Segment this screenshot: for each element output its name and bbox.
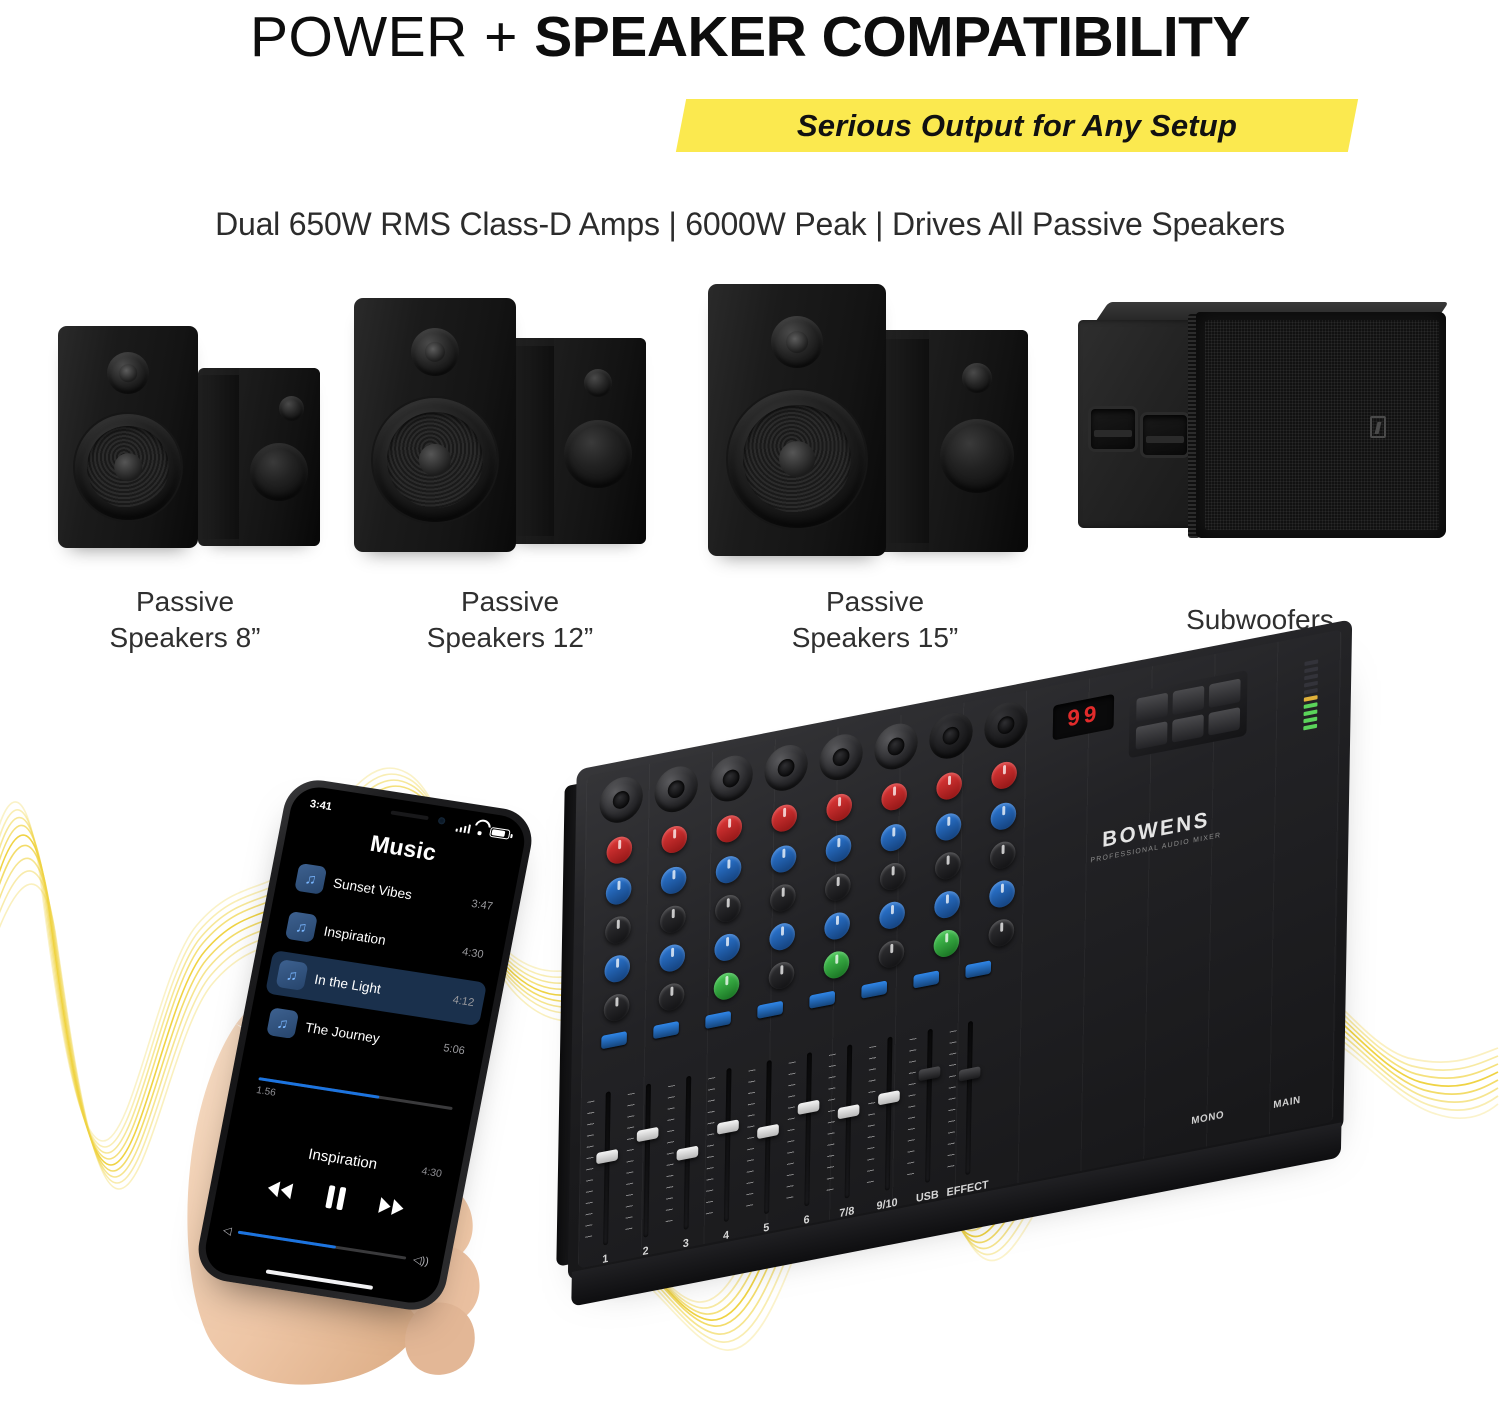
gain-knob[interactable]	[606, 834, 632, 866]
fx-button[interactable]	[1172, 714, 1204, 743]
gain-knob[interactable]	[881, 781, 907, 813]
page-title: POWER + SPEAKER COMPATIBILITY	[0, 2, 1500, 72]
playback-progress[interactable]: 1.56	[255, 1077, 452, 1126]
meter-led	[1304, 659, 1318, 666]
woofer-driver	[250, 443, 308, 501]
pan-knob[interactable]	[714, 970, 740, 1002]
aux-send-knob[interactable]	[604, 953, 630, 985]
fader-scale	[706, 1077, 715, 1219]
fader-slot	[965, 1021, 973, 1175]
fader-scale	[786, 1061, 795, 1203]
aux-send-knob[interactable]	[824, 910, 850, 942]
fader-cap[interactable]	[919, 1066, 941, 1081]
track-title: Sunset Vibes	[332, 875, 464, 910]
eq-high-knob[interactable]	[606, 875, 632, 907]
subwoofer-handle	[1140, 412, 1190, 458]
status-indicators	[455, 822, 511, 840]
speaker-front	[708, 284, 886, 556]
channel-fader[interactable]: 3	[674, 1074, 700, 1232]
volume-fill	[238, 1231, 336, 1249]
channel-fader[interactable]: 4	[715, 1066, 741, 1224]
aux-send-knob[interactable]	[659, 942, 685, 974]
meter-led	[1304, 695, 1318, 702]
fx-button[interactable]	[1208, 707, 1240, 736]
aux-send-knob[interactable]	[934, 889, 960, 921]
mono-output-label: MONO	[1191, 1110, 1224, 1128]
track-title: Inspiration	[323, 923, 455, 958]
track-duration: 3:47	[470, 898, 493, 913]
woofer-driver	[373, 398, 497, 522]
pan-knob[interactable]	[878, 938, 904, 970]
fader-scale	[827, 1054, 836, 1196]
subwoofer-cabinet	[1072, 302, 1450, 564]
mute-button[interactable]	[965, 960, 991, 978]
eq-mid-knob[interactable]	[880, 861, 906, 893]
track-title: The Journey	[304, 1019, 436, 1054]
page-title-bold: SPEAKER COMPATIBILITY	[534, 5, 1250, 69]
speaker-front	[354, 298, 516, 552]
mute-button[interactable]	[601, 1031, 627, 1049]
fx-button[interactable]	[1136, 693, 1168, 722]
fader-scale	[625, 1093, 634, 1235]
battery-icon	[489, 827, 511, 840]
meter-led	[1303, 724, 1317, 731]
aux-send-knob[interactable]	[714, 932, 740, 964]
track-duration: 5:06	[442, 1042, 465, 1057]
mixer-console: 99	[568, 619, 1352, 1281]
product-label: Passive Speakers 15”	[792, 584, 959, 656]
xlr-input-jack[interactable]	[764, 741, 808, 794]
fader-scale	[867, 1046, 876, 1188]
product-passive-12: Passive Speakers 12”	[330, 280, 690, 660]
meter-led	[1304, 674, 1318, 681]
channel-fader[interactable]: 1	[594, 1089, 620, 1247]
fader-cap[interactable]	[798, 1100, 820, 1115]
xlr-input-jack[interactable]	[599, 773, 643, 826]
woofer-driver	[940, 419, 1014, 493]
music-note-icon: ♫	[266, 1007, 299, 1039]
track-duration: 4:30	[461, 946, 484, 961]
product-image-passive-12	[330, 280, 690, 580]
fader-scale	[666, 1085, 675, 1227]
eq-high-knob[interactable]	[880, 822, 906, 854]
tweeter-driver	[771, 316, 823, 368]
front-camera-icon	[438, 817, 446, 825]
speaker-cabinet-side	[198, 375, 239, 539]
mute-button[interactable]	[757, 1001, 783, 1019]
fx-button[interactable]	[1136, 721, 1168, 750]
mute-button[interactable]	[913, 970, 939, 988]
pause-icon[interactable]	[325, 1185, 346, 1210]
trs-input-jack[interactable]	[984, 698, 1028, 751]
fader-slot	[804, 1052, 812, 1206]
meter-led	[1304, 681, 1318, 688]
eq-high-knob[interactable]	[716, 854, 742, 886]
subwoofer-front-face	[1196, 312, 1446, 538]
spec-subheadline: Dual 650W RMS Class-D Amps | 6000W Peak …	[0, 206, 1500, 243]
eq-high-knob[interactable]	[990, 800, 1016, 832]
tweeter-driver	[107, 352, 149, 394]
fx-button[interactable]	[1172, 686, 1204, 715]
pan-knob[interactable]	[659, 981, 685, 1013]
woofer-driver	[564, 420, 632, 488]
volume-low-icon: ◁	[222, 1223, 233, 1237]
aux-send-knob[interactable]	[879, 900, 905, 932]
xlr-input-jack[interactable]	[874, 720, 918, 773]
xlr-input-jack[interactable]	[819, 730, 863, 783]
audio-mixer: 99	[545, 660, 1500, 1400]
aux-send-knob[interactable]	[769, 921, 795, 953]
product-passive-15: Passive Speakers 15”	[680, 280, 1070, 660]
pan-knob[interactable]	[933, 928, 959, 960]
infographic-page: POWER + SPEAKER COMPATIBILITY Serious Ou…	[0, 0, 1500, 1414]
meter-led	[1304, 709, 1318, 716]
main-output-label: MAIN	[1273, 1095, 1301, 1112]
gain-knob[interactable]	[826, 792, 852, 824]
earpiece-speaker-icon	[390, 810, 428, 820]
fader-cap[interactable]	[959, 1066, 981, 1081]
channel-fader[interactable]: 9/10	[876, 1035, 902, 1193]
gain-knob[interactable]	[771, 802, 797, 834]
eq-mid-knob[interactable]	[935, 850, 961, 882]
fx-button[interactable]	[1209, 678, 1241, 707]
fader-scale	[947, 1030, 956, 1172]
fader-scale	[585, 1101, 594, 1243]
fader-slot	[845, 1044, 853, 1198]
pan-knob[interactable]	[823, 949, 849, 981]
eq-mid-knob[interactable]	[825, 871, 851, 903]
speaker-angled	[878, 330, 1028, 552]
music-note-icon: ♫	[285, 911, 318, 943]
fader-cap[interactable]	[878, 1090, 900, 1105]
volume-high-icon: ◁))	[412, 1253, 430, 1268]
music-note-icon: ♫	[294, 863, 327, 895]
product-image-subwoofer	[1060, 280, 1460, 580]
gain-knob[interactable]	[991, 760, 1017, 792]
product-subwoofer: Subwoofers	[1060, 280, 1460, 660]
fader-slot	[724, 1068, 732, 1222]
trs-input-jack[interactable]	[929, 709, 973, 762]
woofer-driver	[75, 414, 181, 520]
product-label: Passive Speakers 12”	[427, 584, 594, 656]
product-image-passive-8	[20, 280, 350, 580]
product-passive-8: Passive Speakers 8”	[20, 280, 350, 660]
phone-in-hand: 3:41 Music ♫ Sunset Vibes 3:47	[130, 780, 570, 1400]
brand-badge-icon	[1370, 416, 1386, 438]
eq-mid-knob[interactable]	[715, 893, 741, 925]
wifi-icon	[473, 825, 487, 836]
tweeter-driver	[279, 396, 304, 421]
track-title: In the Light	[313, 971, 445, 1006]
eq-mid-knob[interactable]	[605, 914, 631, 946]
channel-fader[interactable]: 7/8	[835, 1042, 861, 1200]
meter-led	[1304, 702, 1318, 709]
fader-cap[interactable]	[717, 1119, 739, 1134]
fader-slot	[885, 1036, 893, 1190]
gain-knob[interactable]	[661, 824, 687, 856]
mute-button[interactable]	[705, 1011, 731, 1029]
subwoofer-grille	[1205, 320, 1439, 530]
eq-high-knob[interactable]	[935, 811, 961, 843]
tagline-banner: Serious Output for Any Setup	[681, 99, 1353, 152]
volume-slider[interactable]: ◁ ◁))	[222, 1223, 430, 1268]
effect-display: 99	[1053, 694, 1114, 741]
pan-knob[interactable]	[604, 992, 630, 1024]
eq-mid-knob[interactable]	[660, 903, 686, 935]
aux-send-knob[interactable]	[989, 878, 1015, 910]
meter-led	[1304, 666, 1318, 673]
banner-label: Serious Output for Any Setup	[681, 99, 1353, 152]
eq-high-knob[interactable]	[661, 865, 687, 897]
effect-keypad[interactable]	[1129, 670, 1248, 758]
track-duration: 4:12	[452, 994, 475, 1009]
speaker-angled	[506, 338, 646, 544]
pan-knob[interactable]	[988, 917, 1014, 949]
mixer-chassis: 99	[568, 619, 1352, 1281]
eq-mid-knob[interactable]	[990, 839, 1016, 871]
forward-icon[interactable]	[376, 1195, 407, 1217]
fader-slot	[925, 1029, 933, 1183]
lifestyle-section: 3:41 Music ♫ Sunset Vibes 3:47	[0, 660, 1500, 1414]
effect-fader[interactable]: EFFECT	[956, 1019, 982, 1177]
gain-knob[interactable]	[716, 813, 742, 845]
meter-led	[1304, 688, 1318, 695]
rewind-icon[interactable]	[264, 1178, 295, 1200]
fader-slot	[603, 1091, 611, 1245]
fader-scale	[907, 1038, 916, 1180]
channel-fader[interactable]: 2	[634, 1082, 660, 1240]
home-indicator[interactable]	[266, 1269, 374, 1289]
fader-cap[interactable]	[838, 1104, 860, 1119]
status-time: 3:41	[309, 798, 333, 813]
eq-high-knob[interactable]	[826, 833, 852, 865]
pan-knob[interactable]	[769, 960, 795, 992]
eq-mid-knob[interactable]	[770, 882, 796, 914]
fader-scale	[746, 1069, 755, 1211]
track-list: ♫ Sunset Vibes 3:47 ♫ Inspiration 4:30 ♫…	[255, 854, 506, 1079]
xlr-input-jack[interactable]	[654, 763, 698, 816]
fader-cap[interactable]	[596, 1149, 618, 1164]
mute-button[interactable]	[653, 1021, 679, 1039]
tweeter-driver	[584, 369, 612, 397]
channel-fader[interactable]: 6	[795, 1050, 821, 1208]
music-note-icon: ♫	[275, 959, 308, 991]
page-title-light: POWER +	[250, 5, 534, 69]
product-row: Passive Speakers 8” Passive Speakers 12”	[0, 280, 1500, 660]
speaker-angled	[198, 368, 320, 546]
subwoofer-handle	[1088, 406, 1138, 452]
meter-led	[1303, 717, 1317, 724]
woofer-driver	[728, 390, 866, 528]
fader-cap[interactable]	[757, 1124, 779, 1139]
gain-knob[interactable]	[936, 770, 962, 802]
product-label: Passive Speakers 8”	[110, 584, 261, 656]
level-meter	[1303, 652, 1318, 730]
mute-button[interactable]	[809, 991, 835, 1009]
channel-fader[interactable]: 5	[755, 1058, 781, 1216]
fader-cap[interactable]	[677, 1146, 699, 1161]
fader-slot	[643, 1083, 651, 1237]
speaker-front	[58, 326, 198, 548]
eq-high-knob[interactable]	[771, 843, 797, 875]
subwoofer-side-panel	[1078, 320, 1198, 528]
tweeter-driver	[962, 363, 992, 393]
volume-track[interactable]	[238, 1231, 406, 1260]
fader-cap[interactable]	[637, 1127, 659, 1142]
tweeter-driver	[411, 328, 459, 376]
mute-button[interactable]	[861, 980, 887, 998]
xlr-input-jack[interactable]	[709, 752, 753, 805]
usb-fader[interactable]: USB	[916, 1027, 942, 1185]
product-image-passive-15	[680, 280, 1070, 580]
